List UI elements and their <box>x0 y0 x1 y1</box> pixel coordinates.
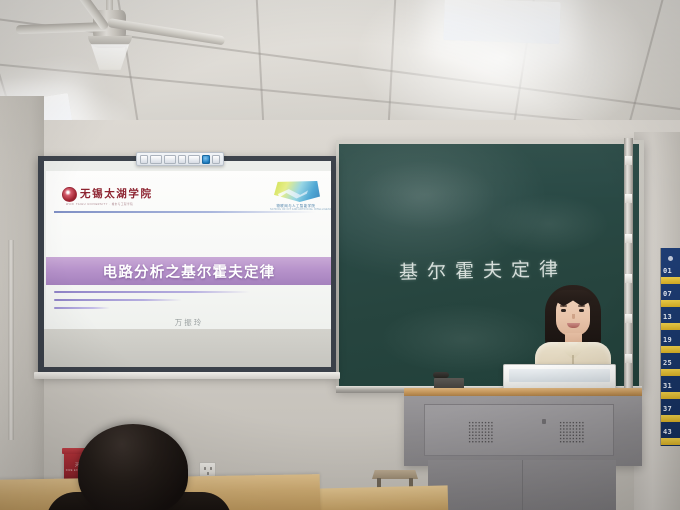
podium-lock-icon[interactable] <box>542 419 546 424</box>
podium-monitor[interactable] <box>503 364 616 390</box>
calendar-row: 07 <box>661 288 680 311</box>
lecturer-nose <box>572 314 575 319</box>
calendar-row: 13 <box>661 311 680 334</box>
calendar-row: 19 <box>661 334 680 357</box>
calendar-schedule-board: 01 07 13 19 25 31 37 43 <box>660 248 680 446</box>
calendar-row-number: 31 <box>663 382 672 390</box>
slide-decor-line <box>54 299 182 301</box>
podium-base-seam <box>522 460 523 510</box>
presentation-toolbar[interactable] <box>136 152 224 166</box>
slide-show-active-icon[interactable] <box>202 155 210 164</box>
classroom-photo-scene: 基尔霍夫定律 01 07 13 19 25 31 37 43 无锡太湖学院 W <box>0 0 680 510</box>
screen-lower-band <box>44 329 331 367</box>
department-logo-shape-icon <box>274 181 320 202</box>
calendar-row-number: 43 <box>663 428 672 436</box>
slide-presenter-name: 万振玲 <box>46 317 331 328</box>
university-subtitle: WUXI TAIHU UNIVERSITY · 城市与工程学院 <box>66 202 133 206</box>
pen-tool-icon[interactable] <box>140 155 148 164</box>
calendar-top-marker <box>668 256 673 261</box>
highlighter-tool-icon[interactable] <box>150 155 162 164</box>
podium-front-panel <box>404 396 642 466</box>
podium-base <box>428 460 616 510</box>
microphone-icon <box>433 372 449 378</box>
podium-monitor-screen[interactable] <box>509 369 610 382</box>
slide-decor-line <box>54 291 250 293</box>
led-panel-right-icon <box>443 0 560 44</box>
slide-decor-line <box>54 307 110 309</box>
lecturer-eyebrow <box>560 305 567 307</box>
wall-pipe <box>8 240 14 440</box>
slide-title: 电路分析之基尔霍夫定律 <box>103 261 276 282</box>
power-outlet-icon[interactable] <box>199 462 216 477</box>
calendar-row: 25 <box>661 357 680 380</box>
student-desk-right <box>318 485 449 510</box>
chalkboard-writing: 基尔霍夫定律 <box>399 254 568 285</box>
university-name: 无锡太湖学院 <box>80 189 153 200</box>
calendar-row: 43 <box>661 426 680 446</box>
university-logo: 无锡太湖学院 <box>62 187 153 202</box>
calendar-row: 31 <box>661 380 680 403</box>
slide-nav-icon[interactable] <box>164 155 176 164</box>
calendar-row: 01 <box>661 265 680 288</box>
calendar-row-number: 25 <box>663 359 672 367</box>
calendar-row-number: 37 <box>663 405 672 413</box>
department-logo: 物联网与人工智能学院 SCHOOL OF IOT AND ARTIFICIAL … <box>268 181 322 215</box>
blackboard-side-rail <box>624 138 633 390</box>
calendar-row-number: 01 <box>663 267 672 275</box>
slide-header-rule <box>54 211 316 213</box>
menu-options-icon[interactable] <box>188 155 200 164</box>
laser-pointer-icon[interactable] <box>178 155 186 164</box>
calendar-row-number: 13 <box>663 313 672 321</box>
lecturer-eyebrow <box>578 305 585 307</box>
calendar-row-number: 19 <box>663 336 672 344</box>
calendar-row: 37 <box>661 403 680 426</box>
slide-title-band: 电路分析之基尔霍夫定律 <box>46 257 331 285</box>
university-emblem-icon <box>62 187 77 202</box>
student-head <box>78 424 188 510</box>
screen-valance-bar <box>34 372 340 379</box>
podium-inset-panel <box>424 404 614 456</box>
lecturer-eye <box>561 309 566 312</box>
calendar-row-number: 07 <box>663 290 672 298</box>
podium-speaker-grille-icon <box>559 421 585 443</box>
close-presentation-icon[interactable] <box>212 155 220 164</box>
presentation-slide: 无锡太湖学院 WUXI TAIHU UNIVERSITY · 城市与工程学院 物… <box>46 171 331 335</box>
projection-screen: 无锡太湖学院 WUXI TAIHU UNIVERSITY · 城市与工程学院 物… <box>38 156 336 376</box>
projection-surface: 无锡太湖学院 WUXI TAIHU UNIVERSITY · 城市与工程学院 物… <box>44 161 331 367</box>
ceiling-fan-icon <box>56 0 206 64</box>
podium-speaker-grille-icon <box>468 421 494 443</box>
lecturer-eye <box>579 309 584 312</box>
